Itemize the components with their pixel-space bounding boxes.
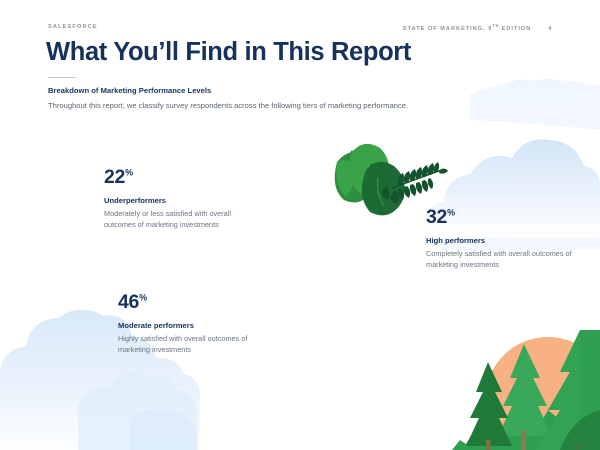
percent-sign: % bbox=[139, 293, 147, 303]
stat-number: 22 bbox=[104, 166, 125, 188]
percent-sign: % bbox=[125, 168, 133, 178]
intro-body-text: Throughout this report, we classify surv… bbox=[48, 100, 508, 111]
stat-block-high-performers: 32% High performers Completely satisfied… bbox=[426, 208, 581, 271]
stat-description-underperformers: Moderately or less satisfied with overal… bbox=[104, 208, 259, 231]
header-right-group: STATE OF MARKETING, 9TH EDITION 4 bbox=[403, 23, 552, 32]
report-title-label: STATE OF MARKETING, 9TH EDITION bbox=[403, 23, 531, 32]
stat-label-underperformers: Underperformers bbox=[104, 196, 259, 207]
report-title-main: STATE OF MARKETING, 9 bbox=[403, 26, 492, 32]
stat-block-underperformers: 22% Underperformers Moderately or less s… bbox=[104, 168, 259, 231]
stat-value-underperformers: 22% bbox=[104, 168, 259, 188]
stat-number: 46 bbox=[118, 291, 139, 313]
report-title-suffix: EDITION bbox=[499, 26, 531, 32]
document-header: SALESFORCE STATE OF MARKETING, 9TH EDITI… bbox=[48, 23, 552, 32]
stat-value-moderate-performers: 46% bbox=[118, 293, 273, 313]
section-divider bbox=[48, 77, 76, 78]
intro-block: Breakdown of Marketing Performance Level… bbox=[48, 85, 508, 111]
stat-description-moderate-performers: Highly satisfied with overall outcomes o… bbox=[118, 333, 273, 356]
percent-sign: % bbox=[447, 208, 455, 218]
stat-block-moderate-performers: 46% Moderate performers Highly satisfied… bbox=[118, 293, 273, 356]
stat-label-moderate-performers: Moderate performers bbox=[118, 321, 273, 332]
report-page: SALESFORCE STATE OF MARKETING, 9TH EDITI… bbox=[0, 0, 600, 450]
stat-label-high-performers: High performers bbox=[426, 236, 581, 247]
brand-label: SALESFORCE bbox=[48, 24, 98, 30]
stat-value-high-performers: 32% bbox=[426, 208, 581, 228]
intro-heading: Breakdown of Marketing Performance Level… bbox=[48, 85, 508, 96]
page-number-label: 4 bbox=[548, 26, 552, 32]
stat-number: 32 bbox=[426, 206, 447, 228]
page-content: SALESFORCE STATE OF MARKETING, 9TH EDITI… bbox=[0, 0, 600, 450]
page-title: What You’ll Find in This Report bbox=[46, 38, 411, 67]
stat-description-high-performers: Completely satisfied with overall outcom… bbox=[426, 248, 581, 271]
